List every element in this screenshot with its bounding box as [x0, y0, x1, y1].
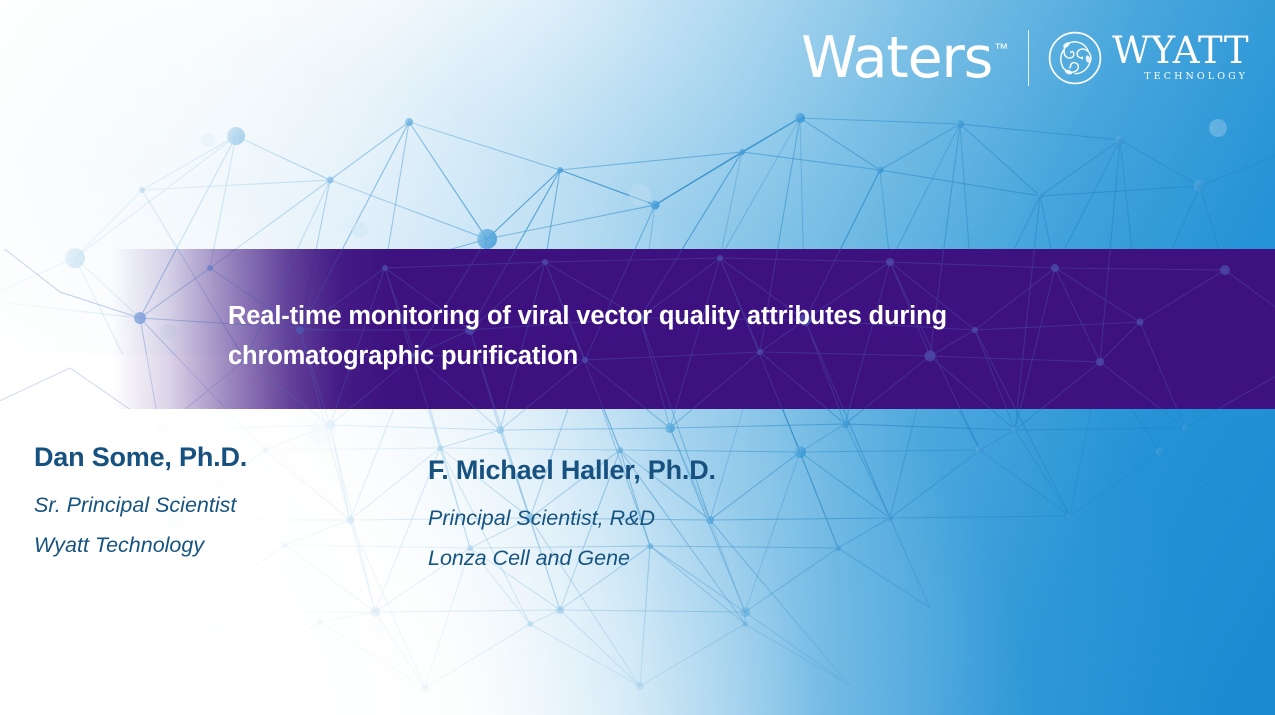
wyatt-logo: WYATT TECHNOLOGY [1048, 31, 1249, 85]
page-title-line-2: chromatographic purification [228, 342, 578, 370]
speaker-organization: Wyatt Technology [34, 534, 247, 558]
wyatt-name: WYATT [1112, 34, 1249, 68]
speaker-block-0: Dan Some, Ph.D. Sr. Principal Scientist … [34, 443, 247, 558]
speaker-role: Sr. Principal Scientist [34, 494, 247, 518]
brand-logo-lockup: Waters ™ [801, 27, 1249, 89]
logo-divider [1028, 30, 1029, 86]
wyatt-text-block: WYATT TECHNOLOGY [1112, 34, 1249, 82]
speaker-role: Principal Scientist, R&D [428, 507, 716, 531]
speaker-block-1: F. Michael Haller, Ph.D. Principal Scien… [428, 456, 716, 571]
page-title: Real-time monitoring of viral vector qua… [228, 296, 1158, 376]
wyatt-swirl-circle-icon [1048, 31, 1102, 85]
page-title-line-1: Real-time monitoring of viral vector qua… [228, 302, 947, 330]
speaker-name: Dan Some, Ph.D. [34, 443, 247, 473]
speaker-name: F. Michael Haller, Ph.D. [428, 456, 716, 486]
trademark-symbol: ™ [994, 41, 1008, 55]
waters-wordmark: Waters [801, 30, 992, 87]
presentation-title-slide: Real-time monitoring of viral vector qua… [0, 0, 1275, 715]
wyatt-subtitle: TECHNOLOGY [1112, 71, 1249, 82]
speaker-organization: Lonza Cell and Gene [428, 547, 716, 571]
